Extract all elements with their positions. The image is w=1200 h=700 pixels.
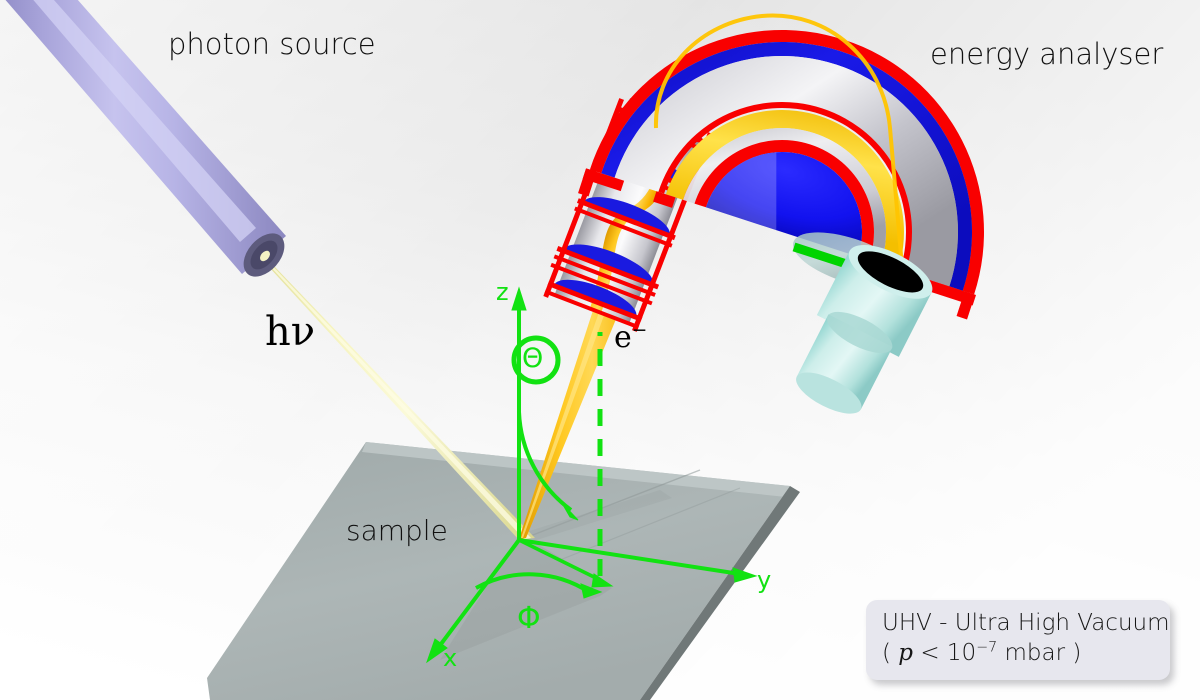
arpes-diagram: photon source energy analyser sample hν … [0, 0, 1200, 700]
pressure-relation: < 10 [913, 640, 976, 666]
uhv-note-line-2: ( p < 10−7 mbar ) [882, 639, 1154, 667]
pressure-unit: mbar ) [997, 640, 1081, 666]
uhv-paren-open: ( [882, 640, 898, 666]
uhv-note-box: UHV - Ultra High Vacuum ( p < 10−7 mbar … [866, 600, 1170, 680]
diagram-canvas [0, 0, 1200, 700]
uhv-note-line-1: UHV - Ultra High Vacuum [882, 610, 1154, 637]
pressure-exponent: −7 [976, 639, 997, 655]
pressure-variable: p [898, 640, 913, 666]
